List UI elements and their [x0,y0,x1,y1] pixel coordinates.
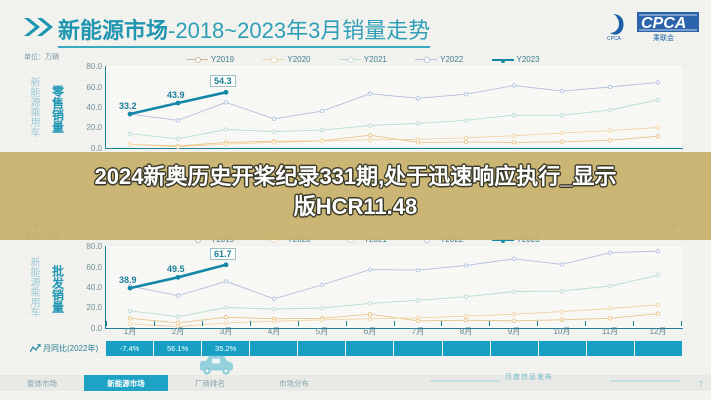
comparison-cell [635,341,682,356]
month-label: 2月 [154,326,202,339]
slide-page: 新能源市场-2018~2023年3月销量走势 CPCA CPCA 乘联会 CPC… [0,0,711,400]
comparison-cell [298,341,346,356]
comparison-cell [539,341,587,356]
data-label: 33.2 [119,101,137,111]
data-label-boxed: 54.3 [210,75,236,87]
x-axis-month-labels: 1月 2月 3月 4月 5月 6月 7月 8月 9月 10月 11月 12月 [106,326,682,339]
tab-nev-market[interactable]: 新能源市场 [84,375,168,391]
comparison-cell [587,341,635,356]
month-label: 3月 [202,326,250,339]
month-label: 4月 [250,326,298,339]
comparison-row-label: 月同比(2022年) [30,341,98,356]
month-label: 9月 [490,326,538,339]
overlay-text: 2024新奥历史开桨纪录331期,处于迅速响应执行_显示 版HCR11.48 [0,162,711,222]
cpca-logo-icon: CPCA CPCA 乘联会 [605,8,703,42]
data-label-boxed: 61.7 [210,248,236,260]
overlay-text-line1: 2024新奥历史开桨纪录331期,处于迅速响应执行_显示 [0,162,711,192]
tab-manufacturer-rank[interactable]: 厂商排名 [168,375,252,391]
tab-overall-market[interactable]: 整体市场 [0,375,84,391]
page-title-sub: -2018~2023年3月销量走势 [168,18,430,43]
comparison-cell [250,341,298,356]
month-label: 1月 [106,326,154,339]
overlay-text-line2: 版HCR11.48 [0,192,711,222]
page-number: 7 [699,380,703,389]
month-label: 12月 [634,326,682,339]
comparison-cell [346,341,394,356]
slide-header: 新能源市场-2018~2023年3月销量走势 CPCA CPCA 乘联会 [0,0,711,48]
data-label: 43.9 [167,90,185,100]
svg-text:乘联会: 乘联会 [653,33,674,42]
data-label: 49.5 [167,264,185,274]
svg-text:CPCA: CPCA [641,15,686,32]
car-icon [196,352,236,376]
comparison-cell: 56.1% [154,341,202,356]
footer-divider [430,376,680,386]
comparison-cell [443,341,491,356]
month-label: 5月 [298,326,346,339]
footer-text: 月度信息发布 [505,372,553,382]
month-label: 11月 [586,326,634,339]
month-label: 6月 [346,326,394,339]
page-title-main: 新能源市场 [58,18,168,43]
comparison-cell: -7.4% [106,341,154,356]
double-chevron-right-icon [22,16,56,38]
comparison-cell [394,341,442,356]
svg-text:CPCA: CPCA [607,36,622,42]
page-title: 新能源市场-2018~2023年3月销量走势 [58,13,430,48]
month-label: 8月 [442,326,490,339]
chart-retail: 单位：万辆 新能源乘用车 零售销量 80.0 60.0 40.0 20.0 0.… [0,52,711,164]
comparison-cell [491,341,539,356]
data-label: 38.9 [119,275,137,285]
tab-market-distribution[interactable]: 市场分布 [252,375,336,391]
comparison-values-row: -7.4% 56.1% 35.2% [106,341,682,356]
trend-line-icon [30,344,41,353]
comparison-label-text: 月同比(2022年) [43,343,98,354]
month-label: 10月 [538,326,586,339]
month-label: 7月 [394,326,442,339]
chart-plot-retail [0,52,711,164]
